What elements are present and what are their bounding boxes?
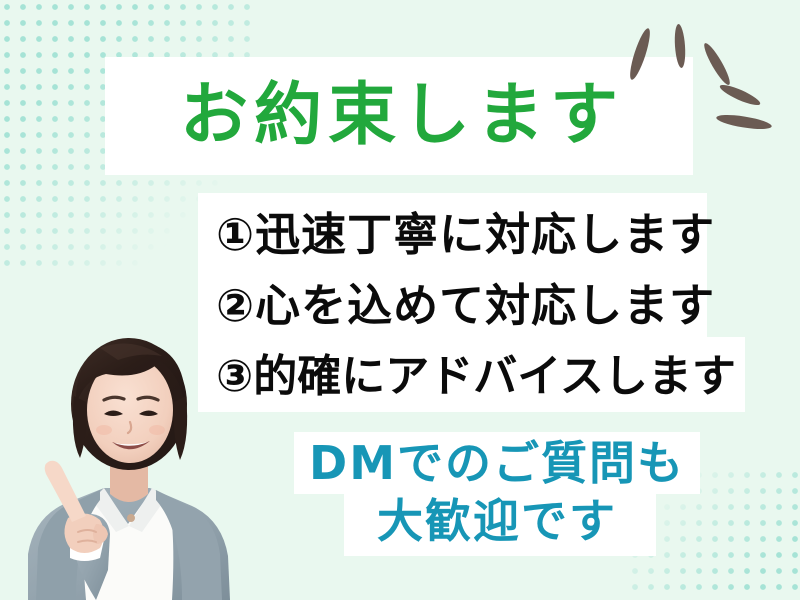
dm-message-line1: DMでのご質問も <box>294 430 700 486</box>
page-title: お約束します <box>105 57 693 175</box>
list-item: ③的確にアドバイスします <box>198 341 758 412</box>
promise-list: ①迅速丁寧に対応します ②心を込めて対応します ③的確にアドバイスします <box>198 193 758 412</box>
dm-message-line2: 大歓迎です <box>294 486 700 544</box>
list-item: ②心を込めて対応します <box>198 270 758 341</box>
list-item: ①迅速丁寧に対応します <box>198 199 758 270</box>
promise-poster: お約束します ①迅速丁寧に対応します ②心を込めて対応します ③的確にアドバイス… <box>0 0 800 600</box>
dm-message: DMでのご質問も 大歓迎です <box>294 430 700 558</box>
